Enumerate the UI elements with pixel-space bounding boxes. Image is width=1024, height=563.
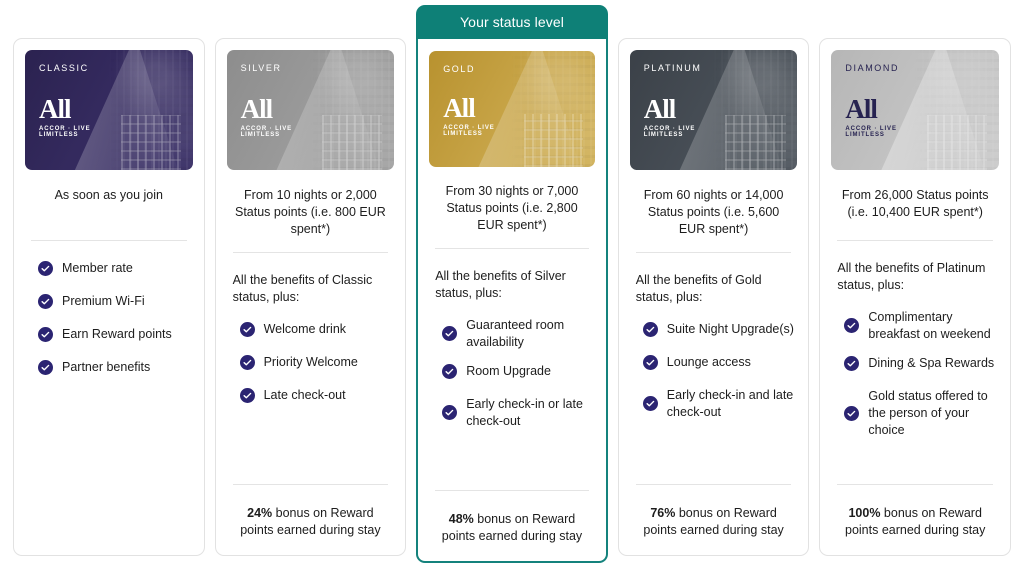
benefit-item: Early check-in and late check-out xyxy=(634,387,796,421)
bonus-percent: 48% xyxy=(449,512,474,526)
check-circle-icon xyxy=(38,327,53,347)
benefit-item: Early check-in or late check-out xyxy=(433,396,593,430)
benefit-label: Early check-in and late check-out xyxy=(667,387,796,421)
benefit-label: Early check-in or late check-out xyxy=(466,396,593,430)
tier-column-platinum: PLATINUM All ACCOR · LIVE LIMITLESS From… xyxy=(613,0,815,563)
benefit-list: Guaranteed room availability Room Upgrad… xyxy=(433,317,593,430)
benefit-list: Member rate Premium Wi-Fi Earn Reward po… xyxy=(29,260,191,380)
benefits-section: All the benefits of Silver status, plus:… xyxy=(429,249,595,490)
tier-column-classic: CLASSIC All ACCOR · LIVE LIMITLESS As so… xyxy=(8,0,210,563)
benefits-intro: All the benefits of Gold status, plus: xyxy=(634,272,796,306)
card-tier-name: CLASSIC xyxy=(39,63,89,73)
tier-requirement: From 26,000 Status points (i.e. 10,400 E… xyxy=(831,170,999,226)
benefit-item: Partner benefits xyxy=(29,359,191,380)
all-logo-tagline: ACCOR · LIVE LIMITLESS xyxy=(443,125,535,137)
all-logo-tagline: ACCOR · LIVE LIMITLESS xyxy=(241,126,333,138)
bonus-percent: 100% xyxy=(848,506,880,520)
bonus-footer: 100% bonus on Reward points earned durin… xyxy=(831,484,999,555)
bonus-statement: 24% bonus on Reward points earned during… xyxy=(227,505,395,539)
all-logo-mark: All xyxy=(845,96,937,123)
benefit-label: Late check-out xyxy=(264,387,346,404)
benefit-item: Member rate xyxy=(29,260,191,281)
bonus-footer: 76% bonus on Reward points earned during… xyxy=(630,484,798,555)
check-circle-icon xyxy=(844,318,859,338)
card-tier-name: DIAMOND xyxy=(845,63,899,73)
benefit-item: Earn Reward points xyxy=(29,326,191,347)
benefit-label: Gold status offered to the person of you… xyxy=(868,388,997,439)
check-circle-icon xyxy=(643,322,658,342)
accor-all-logo: All ACCOR · LIVE LIMITLESS xyxy=(644,96,736,138)
card-tier-name: PLATINUM xyxy=(644,63,702,73)
benefit-label: Room Upgrade xyxy=(466,363,551,380)
tier-card-silver[interactable]: SILVER All ACCOR · LIVE LIMITLESS From 1… xyxy=(215,38,407,556)
bonus-percent: 24% xyxy=(247,506,272,520)
tier-requirement: From 30 nights or 7,000 Status points (i… xyxy=(429,167,595,234)
check-circle-icon xyxy=(240,322,255,342)
all-logo-tagline: ACCOR · LIVE LIMITLESS xyxy=(39,126,131,138)
benefit-list: Welcome drink Priority Welcome Late chec… xyxy=(231,321,393,408)
benefit-label: Lounge access xyxy=(667,354,751,371)
bonus-statement: 48% bonus on Reward points earned during… xyxy=(429,511,595,545)
benefit-item: Room Upgrade xyxy=(433,363,593,384)
benefit-label: Welcome drink xyxy=(264,321,346,338)
benefit-item: Dining & Spa Rewards xyxy=(835,355,997,376)
membership-card-art-silver: SILVER All ACCOR · LIVE LIMITLESS xyxy=(227,50,395,170)
check-circle-icon xyxy=(643,355,658,375)
check-circle-icon xyxy=(240,355,255,375)
tier-card-diamond[interactable]: DIAMOND All ACCOR · LIVE LIMITLESS From … xyxy=(819,38,1011,556)
bonus-statement: 100% bonus on Reward points earned durin… xyxy=(831,505,999,539)
check-circle-icon xyxy=(38,294,53,314)
tier-column-silver: SILVER All ACCOR · LIVE LIMITLESS From 1… xyxy=(210,0,412,563)
benefits-intro: All the benefits of Platinum status, plu… xyxy=(835,260,997,294)
check-circle-icon xyxy=(38,261,53,281)
benefit-item: Late check-out xyxy=(231,387,393,408)
bonus-percent: 76% xyxy=(650,506,675,520)
tier-card-classic[interactable]: CLASSIC All ACCOR · LIVE LIMITLESS As so… xyxy=(13,38,205,556)
bonus-footer: 24% bonus on Reward points earned during… xyxy=(227,484,395,555)
benefits-intro: All the benefits of Classic status, plus… xyxy=(231,272,393,306)
check-circle-icon xyxy=(844,406,859,426)
divider xyxy=(435,490,589,491)
benefit-label: Guaranteed room availability xyxy=(466,317,593,351)
benefits-section: All the benefits of Gold status, plus: S… xyxy=(630,253,798,484)
accor-all-logo: All ACCOR · LIVE LIMITLESS xyxy=(39,96,131,138)
benefit-item: Welcome drink xyxy=(231,321,393,342)
benefits-section: All the benefits of Platinum status, plu… xyxy=(831,241,999,484)
benefit-item: Guaranteed room availability xyxy=(433,317,593,351)
tier-requirement: From 60 nights or 14,000 Status points (… xyxy=(630,170,798,238)
tier-card-gold[interactable]: GOLD All ACCOR · LIVE LIMITLESS From 30 … xyxy=(416,39,608,563)
all-logo-tagline: ACCOR · LIVE LIMITLESS xyxy=(644,126,736,138)
all-logo-mark: All xyxy=(39,96,131,123)
bonus-statement: 76% bonus on Reward points earned during… xyxy=(630,505,798,539)
check-circle-icon xyxy=(38,360,53,380)
tier-requirement: From 10 nights or 2,000 Status points (i… xyxy=(227,170,395,238)
accor-all-logo: All ACCOR · LIVE LIMITLESS xyxy=(443,95,535,137)
all-logo-mark: All xyxy=(644,96,736,123)
card-tier-name: SILVER xyxy=(241,63,282,73)
loyalty-tiers-comparison: CLASSIC All ACCOR · LIVE LIMITLESS As so… xyxy=(0,0,1024,563)
tier-card-platinum[interactable]: PLATINUM All ACCOR · LIVE LIMITLESS From… xyxy=(618,38,810,556)
benefit-item: Priority Welcome xyxy=(231,354,393,375)
check-circle-icon xyxy=(442,326,457,346)
benefit-label: Partner benefits xyxy=(62,359,150,376)
card-tier-name: GOLD xyxy=(443,64,475,74)
bonus-footer: 48% bonus on Reward points earned during… xyxy=(429,490,595,561)
membership-card-art-diamond: DIAMOND All ACCOR · LIVE LIMITLESS xyxy=(831,50,999,170)
membership-card-art-gold: GOLD All ACCOR · LIVE LIMITLESS xyxy=(429,51,595,167)
membership-card-art-platinum: PLATINUM All ACCOR · LIVE LIMITLESS xyxy=(630,50,798,170)
benefit-label: Premium Wi-Fi xyxy=(62,293,145,310)
benefit-label: Member rate xyxy=(62,260,133,277)
check-circle-icon xyxy=(442,405,457,425)
all-logo-tagline: ACCOR · LIVE LIMITLESS xyxy=(845,126,937,138)
benefits-section: Member rate Premium Wi-Fi Earn Reward po… xyxy=(25,241,193,518)
benefit-item: Suite Night Upgrade(s) xyxy=(634,321,796,342)
membership-card-art-classic: CLASSIC All ACCOR · LIVE LIMITLESS xyxy=(25,50,193,170)
tier-column-diamond: DIAMOND All ACCOR · LIVE LIMITLESS From … xyxy=(814,0,1016,563)
divider xyxy=(837,484,993,485)
divider xyxy=(636,484,792,485)
benefits-intro: All the benefits of Silver status, plus: xyxy=(433,268,593,302)
check-circle-icon xyxy=(442,364,457,384)
all-logo-mark: All xyxy=(443,95,535,122)
benefit-item: Complimentary breakfast on weekend xyxy=(835,309,997,343)
check-circle-icon xyxy=(643,396,658,416)
benefit-label: Priority Welcome xyxy=(264,354,358,371)
all-logo-mark: All xyxy=(241,96,333,123)
benefit-list: Complimentary breakfast on weekend Dinin… xyxy=(835,309,997,439)
benefit-item: Gold status offered to the person of you… xyxy=(835,388,997,439)
benefits-section: All the benefits of Classic status, plus… xyxy=(227,253,395,484)
tier-column-gold: Your status level GOLD All ACCOR · LIVE … xyxy=(411,0,613,563)
accor-all-logo: All ACCOR · LIVE LIMITLESS xyxy=(241,96,333,138)
benefit-label: Complimentary breakfast on weekend xyxy=(868,309,997,343)
benefit-label: Suite Night Upgrade(s) xyxy=(667,321,794,338)
check-circle-icon xyxy=(844,356,859,376)
check-circle-icon xyxy=(240,388,255,408)
benefit-item: Premium Wi-Fi xyxy=(29,293,191,314)
benefit-label: Dining & Spa Rewards xyxy=(868,355,994,372)
tier-requirement: As soon as you join xyxy=(25,170,193,226)
benefit-item: Lounge access xyxy=(634,354,796,375)
divider xyxy=(233,484,389,485)
accor-all-logo: All ACCOR · LIVE LIMITLESS xyxy=(845,96,937,138)
your-status-level-banner: Your status level xyxy=(416,5,608,39)
benefit-list: Suite Night Upgrade(s) Lounge access Ear… xyxy=(634,321,796,421)
benefit-label: Earn Reward points xyxy=(62,326,172,343)
